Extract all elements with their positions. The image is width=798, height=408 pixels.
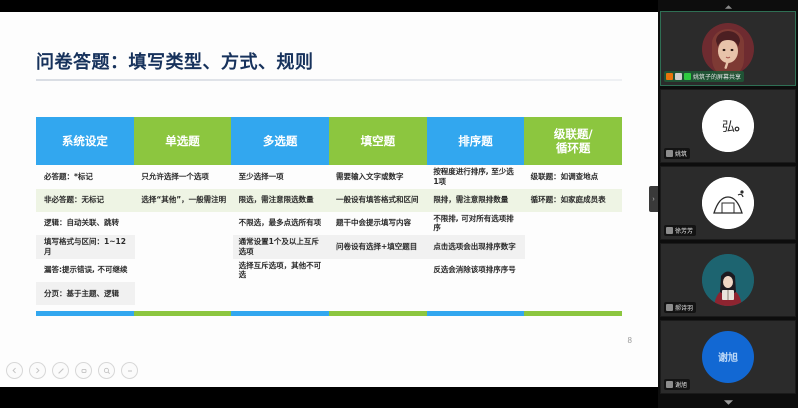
table-row: 分页：基于主题、逻辑 bbox=[36, 282, 622, 305]
participant-tile[interactable]: 弘 姚筑 bbox=[660, 89, 796, 163]
footer-bar-segment bbox=[231, 311, 329, 316]
table-cell: 不限排, 可对所有选项排序 bbox=[427, 212, 524, 236]
participant-name-bar: 姚筑子的屏幕共享 bbox=[664, 71, 744, 82]
collapse-rail-handle[interactable]: › bbox=[649, 186, 658, 212]
table-cell: 级联题：如调查地点 bbox=[525, 165, 622, 189]
table-header-cell: 单选题 bbox=[134, 117, 232, 165]
table-cell: 反选会消除该项排序序号 bbox=[427, 259, 524, 283]
table-cell: 题干中会提示填写内容 bbox=[330, 212, 427, 236]
table-cell: 漏答:提示错误, 不可继续 bbox=[36, 259, 135, 283]
header-label-line2: 循环题 bbox=[554, 141, 593, 155]
header-label: 级联题/ bbox=[554, 127, 593, 141]
table-cell bbox=[525, 282, 622, 305]
participant-name-bar: 姚筑 bbox=[664, 148, 690, 159]
meeting-screen-share-window: 问卷答题：填写类型、方式、规则 系统设定 单选题 多选题 填空题 bbox=[0, 0, 798, 408]
avatar bbox=[702, 254, 754, 306]
table-cell bbox=[330, 282, 427, 305]
prev-slide-button[interactable] bbox=[6, 362, 23, 379]
participant-tile[interactable]: 谢旭 谢旭 bbox=[660, 320, 796, 394]
table-cell: 逻辑：自动关联、跳转 bbox=[36, 212, 135, 236]
title-divider bbox=[36, 79, 622, 81]
table-cell: 限选，需注意限选数量 bbox=[233, 189, 330, 212]
participant-name: 谢旭 bbox=[675, 380, 687, 389]
table-cell bbox=[525, 235, 622, 259]
footer-bar-segment bbox=[329, 311, 427, 316]
avatar bbox=[702, 23, 754, 75]
table-header-row: 系统设定 单选题 多选题 填空题 排序题 bbox=[36, 117, 622, 165]
next-slide-button[interactable] bbox=[29, 362, 46, 379]
table-cell: 问卷设有选择+填空题目 bbox=[330, 235, 427, 259]
microphone-off-icon bbox=[666, 227, 673, 234]
table-header-cell: 级联题/ 循环题 bbox=[524, 117, 622, 165]
screen-share-icon bbox=[675, 73, 682, 80]
header-label: 排序题 bbox=[458, 134, 493, 148]
table-cell bbox=[135, 212, 232, 236]
table-cell: 限排，需注意限排数量 bbox=[427, 189, 524, 212]
laser-pointer-icon[interactable] bbox=[75, 362, 92, 379]
table-footer-color-bar bbox=[36, 311, 622, 316]
table-header-cell: 系统设定 bbox=[36, 117, 134, 165]
participant-name-bar: 郝诗羽 bbox=[664, 302, 696, 313]
table-cell bbox=[135, 235, 232, 259]
microphone-off-icon bbox=[666, 150, 673, 157]
scroll-up-arrow-icon[interactable] bbox=[660, 2, 796, 11]
table-header-cell: 排序题 bbox=[427, 117, 525, 165]
zoom-icon[interactable] bbox=[98, 362, 115, 379]
avatar: 弘 bbox=[702, 100, 754, 152]
table-cell bbox=[135, 259, 232, 283]
slide-page-number: 8 bbox=[628, 336, 632, 345]
table-cell: 必答题：*标记 bbox=[36, 165, 135, 189]
table-cell bbox=[427, 282, 524, 305]
scroll-down-arrow-icon[interactable] bbox=[660, 397, 796, 408]
table-cell bbox=[330, 259, 427, 283]
participant-name: 姚筑子的屏幕共享 bbox=[693, 72, 741, 81]
header-label: 填空题 bbox=[361, 134, 396, 148]
minimize-icon[interactable] bbox=[121, 362, 138, 379]
footer-bar-segment bbox=[427, 311, 525, 316]
participant-video-rail: › 姚筑 bbox=[658, 0, 798, 408]
table-cell: 需要输入文字或数字 bbox=[330, 165, 427, 189]
table-cell: 只允许选择一个选项 bbox=[135, 165, 232, 189]
table-cell: 不限选，最多点选所有项 bbox=[233, 212, 330, 236]
table-cell: 填写格式与区间：1~12月 bbox=[36, 235, 135, 259]
header-label: 系统设定 bbox=[62, 134, 108, 148]
table-cell bbox=[525, 212, 622, 236]
table-cell: 至少选择一项 bbox=[233, 165, 330, 189]
microphone-on-icon bbox=[684, 73, 691, 80]
table-cell: 一般设有填答格式和区间 bbox=[330, 189, 427, 212]
table-row: 必答题：*标记 只允许选择一个选项 至少选择一项 需要输入文字或数字 按程度进行… bbox=[36, 165, 622, 189]
footer-bar-segment bbox=[134, 311, 232, 316]
table-header-cell: 填空题 bbox=[329, 117, 427, 165]
participant-name-bar: 谢旭 bbox=[664, 379, 690, 390]
footer-bar-segment bbox=[36, 311, 134, 316]
avatar-text: 谢旭 bbox=[718, 349, 738, 364]
microphone-off-icon bbox=[666, 381, 673, 388]
annotate-pen-icon[interactable] bbox=[52, 362, 69, 379]
participant-name: 姚筑 bbox=[675, 149, 687, 158]
table-cell: 通常设置1个及以上互斥选项 bbox=[233, 235, 330, 259]
table-cell: 分页：基于主题、逻辑 bbox=[36, 282, 135, 305]
chevron-right-icon: › bbox=[652, 196, 654, 203]
participant-tile[interactable]: 徐芳芳 bbox=[660, 166, 796, 240]
avatar-initials: 谢旭 bbox=[702, 331, 754, 383]
participant-tile[interactable]: 郝诗羽 bbox=[660, 243, 796, 317]
table-row: 填写格式与区间：1~12月 通常设置1个及以上互斥选项 问卷设有选择+填空题目 … bbox=[36, 235, 622, 259]
header-label: 单选题 bbox=[165, 134, 200, 148]
participant-name-bar: 徐芳芳 bbox=[664, 225, 696, 236]
table-cell: 按程度进行排序, 至少选1项 bbox=[427, 165, 524, 189]
slide-toolbar bbox=[6, 362, 138, 379]
header-label: 多选题 bbox=[263, 134, 298, 148]
table-cell: 选择互斥选项，其他不可选 bbox=[233, 259, 330, 283]
table-row: 逻辑：自动关联、跳转 不限选，最多点选所有项 题干中会提示填写内容 不限排, 可… bbox=[36, 212, 622, 236]
host-badge-icon bbox=[666, 73, 673, 80]
participant-name: 徐芳芳 bbox=[675, 226, 693, 235]
table-cell: 循环题：如家庭成员表 bbox=[525, 189, 622, 212]
participant-tile[interactable]: 姚筑子的屏幕共享 bbox=[660, 11, 796, 85]
svg-text:弘: 弘 bbox=[722, 120, 735, 135]
table-cell bbox=[233, 282, 330, 305]
slide-title-block: 问卷答题：填写类型、方式、规则 bbox=[36, 48, 622, 81]
table-cell: 点击选项会出现排序数字 bbox=[427, 235, 524, 259]
slide-canvas: 问卷答题：填写类型、方式、规则 系统设定 单选题 多选题 填空题 bbox=[0, 12, 658, 387]
table-cell: 非必答题：无标记 bbox=[36, 189, 135, 212]
page-title: 问卷答题：填写类型、方式、规则 bbox=[36, 48, 622, 74]
avatar bbox=[702, 177, 754, 229]
table-row: 非必答题：无标记 选择“其他”，一般需注明 限选，需注意限选数量 一般设有填答格… bbox=[36, 189, 622, 212]
table-cell bbox=[135, 282, 232, 305]
footer-bar-segment bbox=[524, 311, 622, 316]
table-header-cell: 多选题 bbox=[231, 117, 329, 165]
microphone-off-icon bbox=[666, 304, 673, 311]
table-cell bbox=[525, 259, 622, 283]
shared-slide-stage: 问卷答题：填写类型、方式、规则 系统设定 单选题 多选题 填空题 bbox=[0, 0, 658, 408]
table-cell: 选择“其他”，一般需注明 bbox=[135, 189, 232, 212]
table-row: 漏答:提示错误, 不可继续 选择互斥选项，其他不可选 反选会消除该项排序序号 bbox=[36, 259, 622, 283]
question-types-table: 系统设定 单选题 多选题 填空题 排序题 bbox=[36, 117, 622, 316]
participant-name: 郝诗羽 bbox=[675, 303, 693, 312]
